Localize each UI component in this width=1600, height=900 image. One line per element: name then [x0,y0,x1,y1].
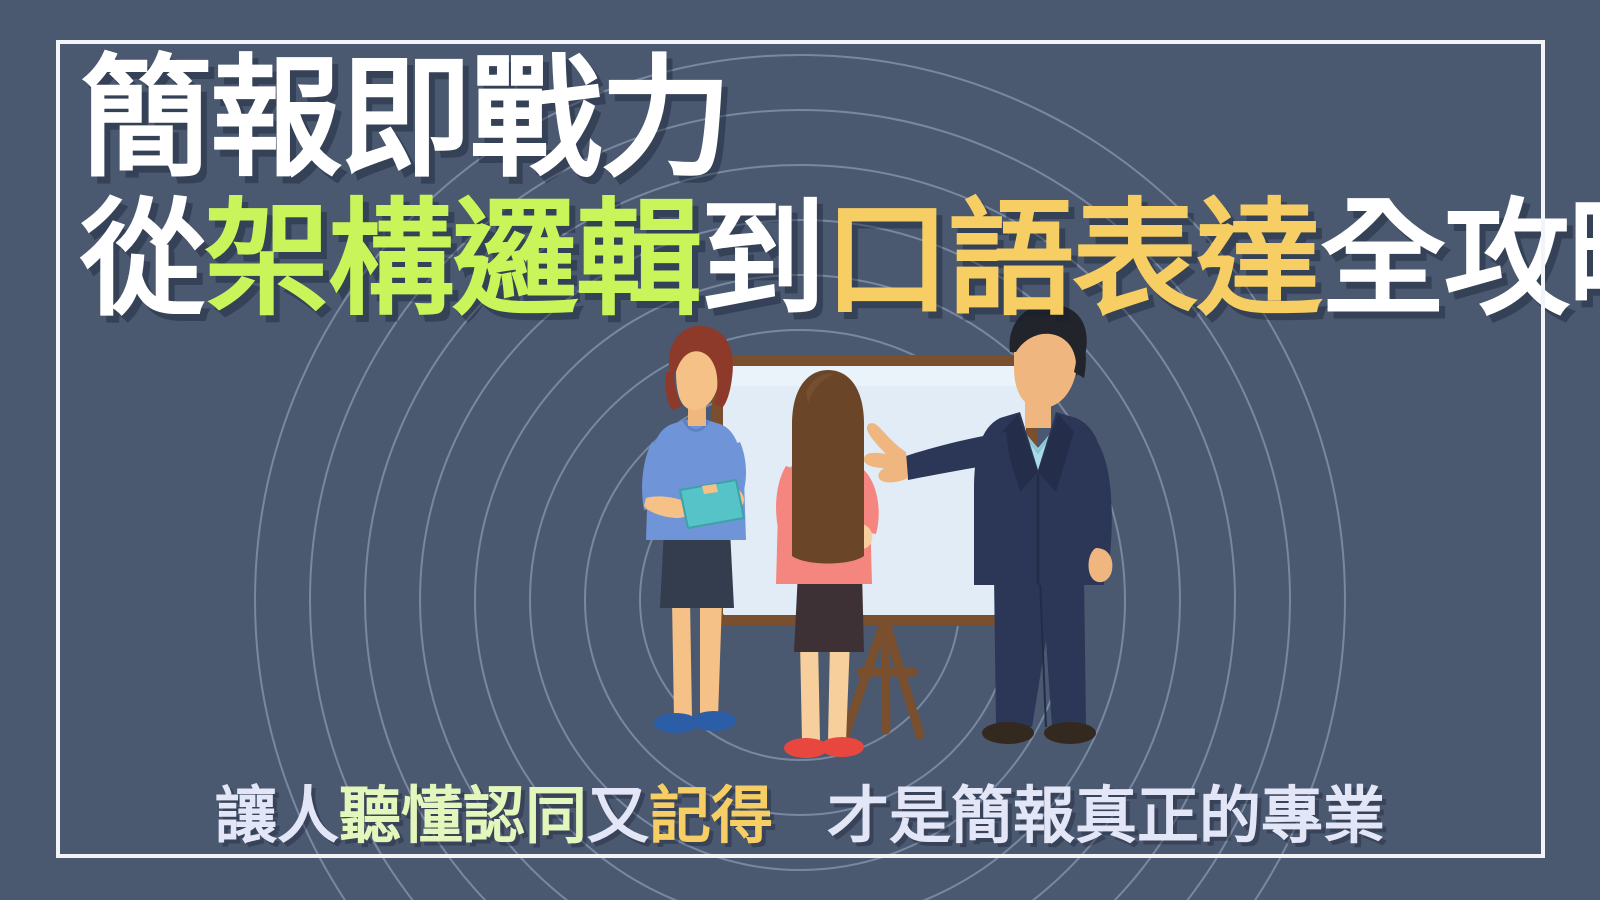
tagline-block: 讓人聽懂認同又記得才是簡報真正的專業 [0,782,1600,852]
tagline-left-seg-2: 聽懂認同 [339,782,587,851]
tagline-right-seg-1: 才是簡報真正的專業 [827,782,1385,851]
headline-line1-seg-1: 簡報即戰力 [80,45,730,192]
headline-line-1: 簡報即戰力 [80,46,1600,192]
tagline-left-seg-4: 記得 [649,782,773,851]
headline-line2-seg-3: 到 [700,189,824,330]
headline-line2-seg-1: 從 [80,189,204,330]
headline-line2-seg-5: 全攻略 [1320,189,1600,330]
tagline-left-seg-3: 又 [587,782,649,851]
poster-canvas: 簡報即戰力 從架構邏輯到口語表達全攻略 讓人聽懂認同又記得才是簡報真正的專業 [0,0,1600,900]
person-woman-with-clipboard [642,326,746,733]
headline-line2-seg-2: 架構邏輯 [204,189,700,330]
tagline-left-seg-1: 讓人 [215,782,339,851]
headline-line-2: 從架構邏輯到口語表達全攻略 [80,190,1600,330]
headline-line2-seg-4: 口語表達 [824,189,1320,330]
headline-block: 簡報即戰力 從架構邏輯到口語表達全攻略 [80,46,1600,330]
